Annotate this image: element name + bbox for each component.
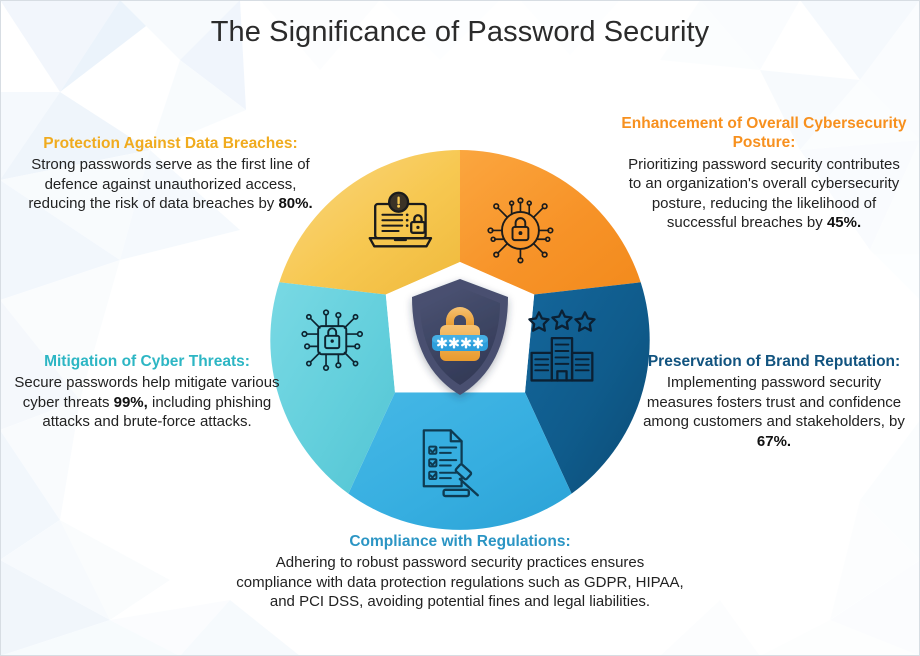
page-title: The Significance of Password Security [0, 16, 920, 49]
callout-heading-cyber-threats: Mitigation of Cyber Threats: [8, 352, 286, 371]
callout-heading-cybersecurity-posture: Enhancement of Overall Cybersecurity Pos… [620, 114, 908, 153]
callout-cybersecurity-posture: Enhancement of Overall Cybersecurity Pos… [620, 114, 908, 233]
callout-text-pre: Implementing password security measures … [643, 374, 905, 430]
callout-body-cybersecurity-posture: Prioritizing password security contribut… [620, 155, 908, 233]
callout-stat: 99%, [114, 394, 148, 411]
callout-stat: 45%. [827, 214, 861, 231]
callout-body-data-breaches: Strong passwords serve as the first line… [18, 155, 323, 214]
callout-compliance-regulations: Compliance with Regulations: Adhering to… [236, 532, 684, 612]
callout-stat: 67%. [757, 433, 791, 450]
callout-stat: 80%. [278, 195, 312, 212]
callout-data-breaches: Protection Against Data Breaches: Strong… [18, 134, 323, 214]
callout-body-compliance-regulations: Adhering to robust password security pra… [236, 553, 684, 612]
callout-heading-data-breaches: Protection Against Data Breaches: [18, 134, 323, 153]
segmented-wheel-diagram [265, 145, 655, 535]
callout-text-pre: Strong passwords serve as the first line… [28, 156, 309, 212]
callout-cyber-threats: Mitigation of Cyber Threats: Secure pass… [8, 352, 286, 432]
wheel-segment-enhancement[interactable] [460, 150, 641, 295]
callout-body-cyber-threats: Secure passwords help mitigate various c… [8, 373, 286, 432]
callout-heading-brand-reputation: Preservation of Brand Reputation: [638, 352, 910, 371]
infographic-canvas: The Significance of Password Security [0, 0, 920, 656]
callout-body-brand-reputation: Implementing password security measures … [638, 373, 910, 451]
callout-brand-reputation: Preservation of Brand Reputation: Implem… [638, 352, 910, 451]
callout-heading-compliance-regulations: Compliance with Regulations: [236, 532, 684, 551]
callout-text-pre: Adhering to robust password security pra… [236, 554, 683, 610]
